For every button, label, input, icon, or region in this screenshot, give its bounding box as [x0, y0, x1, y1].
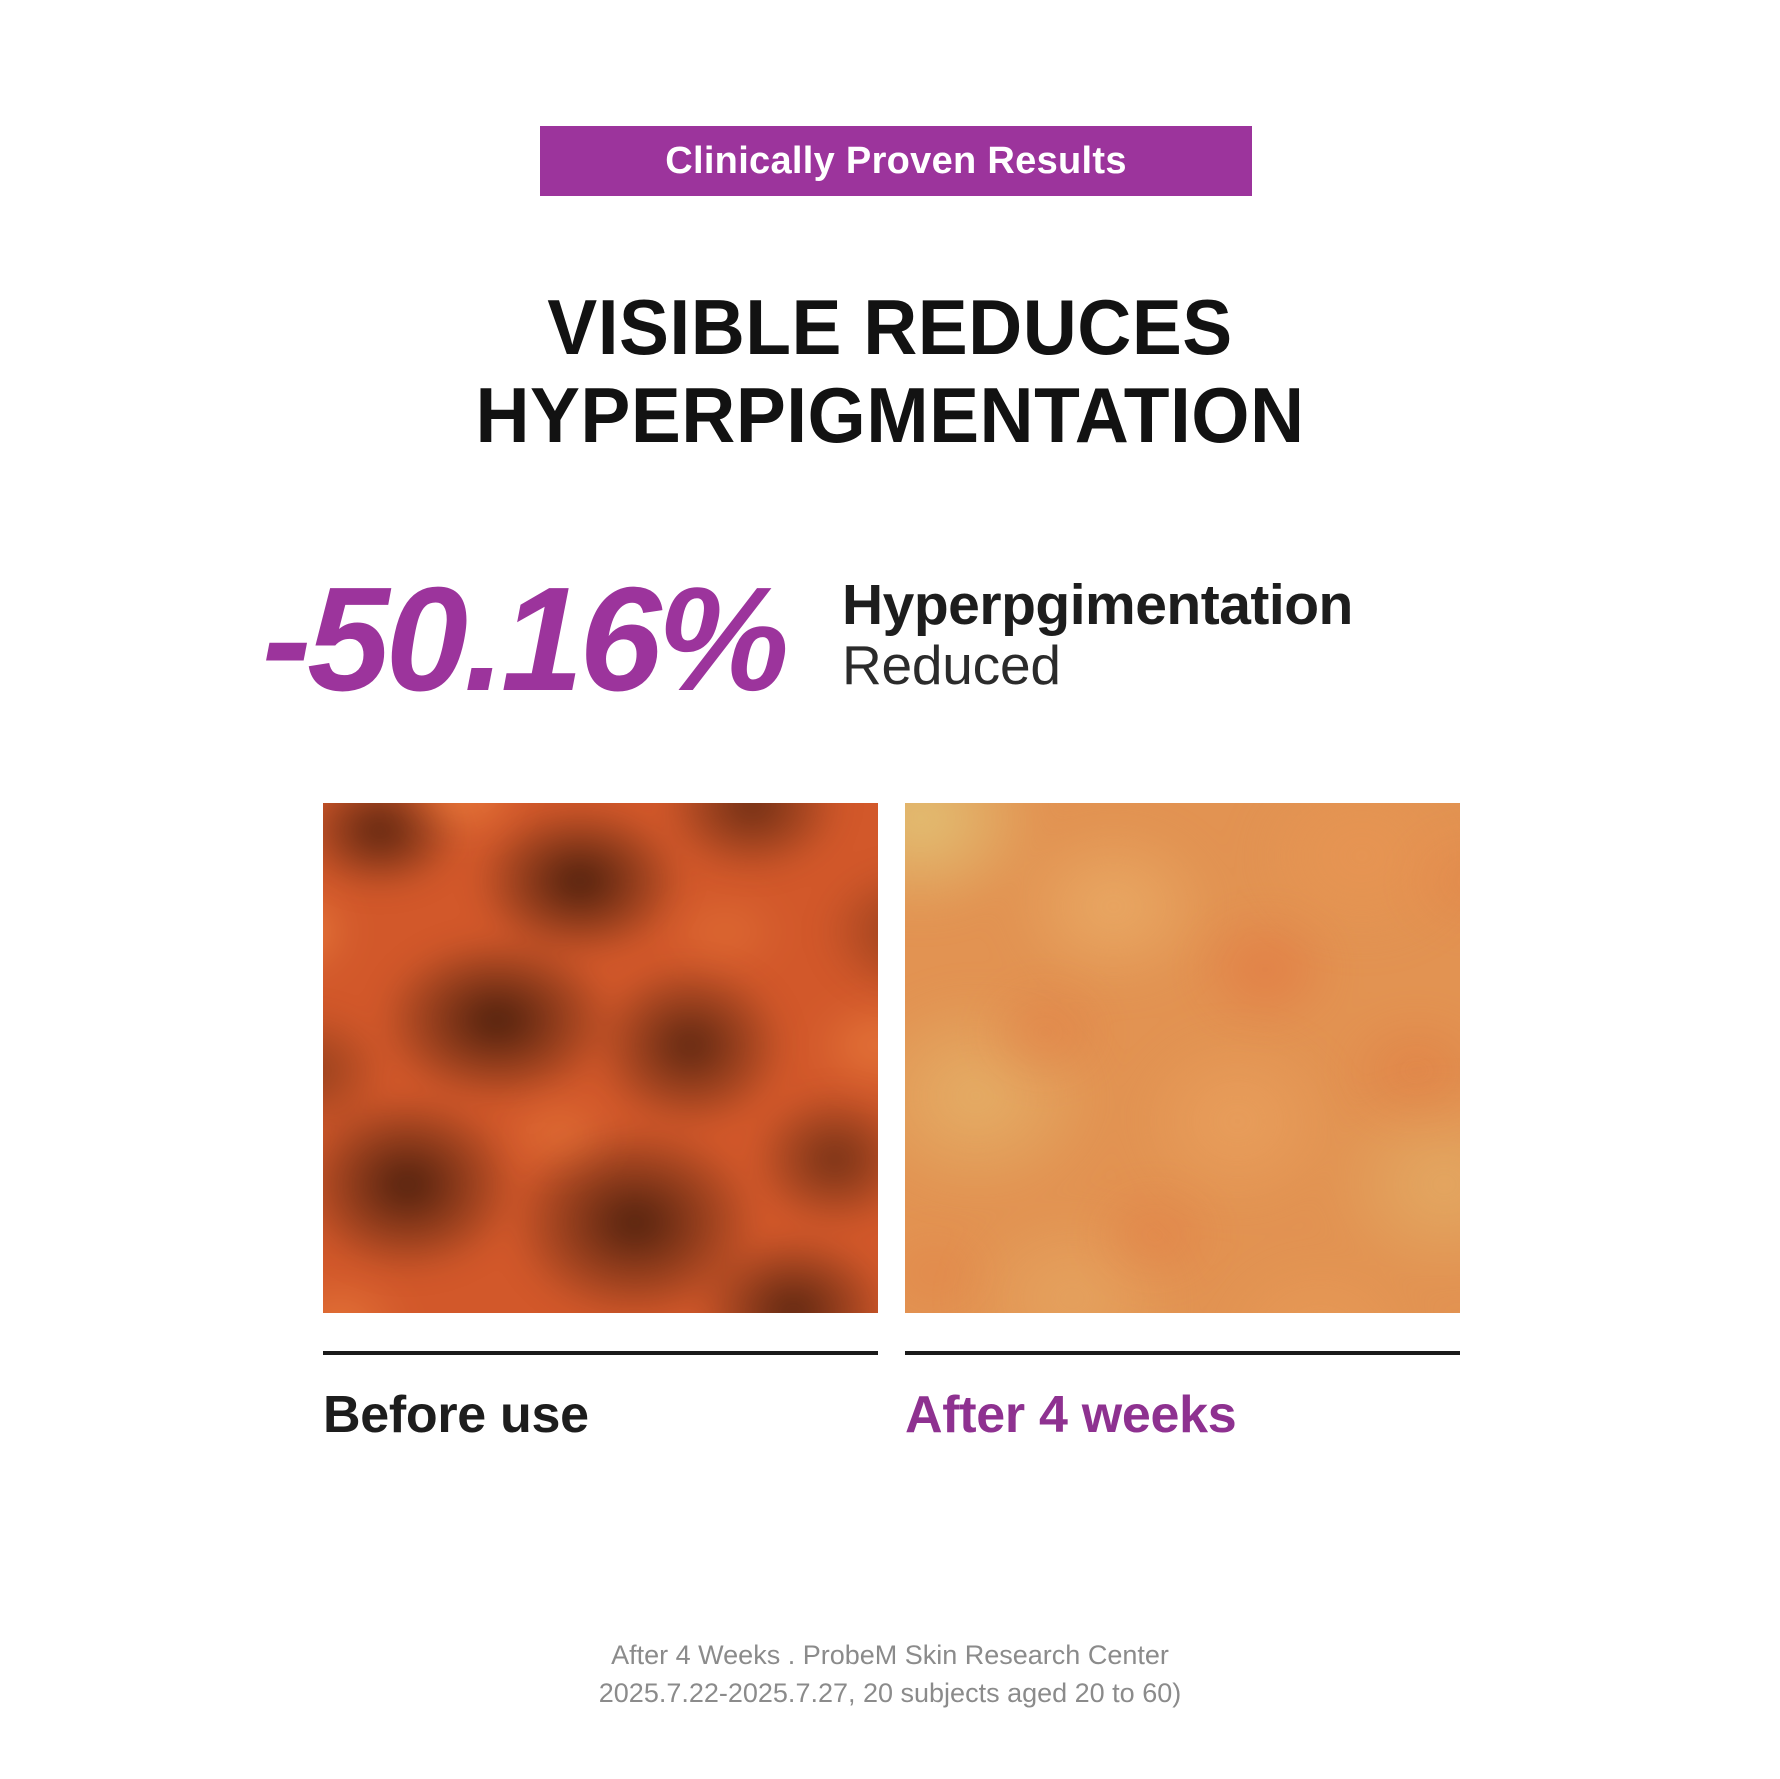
stat-percentage-value: -50.16% — [262, 566, 785, 714]
page-title: VISIBLE REDUCES HYPERPIGMENTATION — [36, 284, 1745, 459]
comparison-panel-before: Before use — [323, 803, 878, 1441]
page-title-line-2: HYPERPIGMENTATION — [36, 372, 1745, 459]
comparison-label-after: After 4 weeks — [905, 1389, 1460, 1441]
comparison-panel-after: After 4 weeks — [905, 803, 1460, 1441]
comparison-label-before: Before use — [323, 1389, 878, 1441]
study-footnote-line-1: After 4 Weeks . ProbeM Skin Research Cen… — [0, 1636, 1780, 1674]
study-footnote-line-2: 2025.7.22-2025.7.27, 20 subjects aged 20… — [0, 1674, 1780, 1712]
clinically-proven-banner: Clinically Proven Results — [540, 126, 1252, 196]
stat-caption-sub: Reduced — [842, 635, 1542, 696]
banner-label: Clinically Proven Results — [665, 142, 1127, 180]
study-footnote: After 4 Weeks . ProbeM Skin Research Cen… — [0, 1636, 1780, 1713]
skin-swatch-before-image — [323, 803, 878, 1313]
panel-divider-before — [323, 1351, 878, 1355]
stat-caption-main: Hyperpgimentation — [842, 576, 1542, 635]
marketing-claim-card: Clinically Proven Results VISIBLE REDUCE… — [0, 0, 1780, 1779]
stat-caption: Hyperpgimentation Reduced — [842, 576, 1542, 696]
skin-swatch-after-image — [905, 803, 1460, 1313]
page-title-line-1: VISIBLE REDUCES — [36, 284, 1745, 371]
stat-block: -50.16% Hyperpgimentation Reduced — [262, 566, 1562, 746]
panel-divider-after — [905, 1351, 1460, 1355]
